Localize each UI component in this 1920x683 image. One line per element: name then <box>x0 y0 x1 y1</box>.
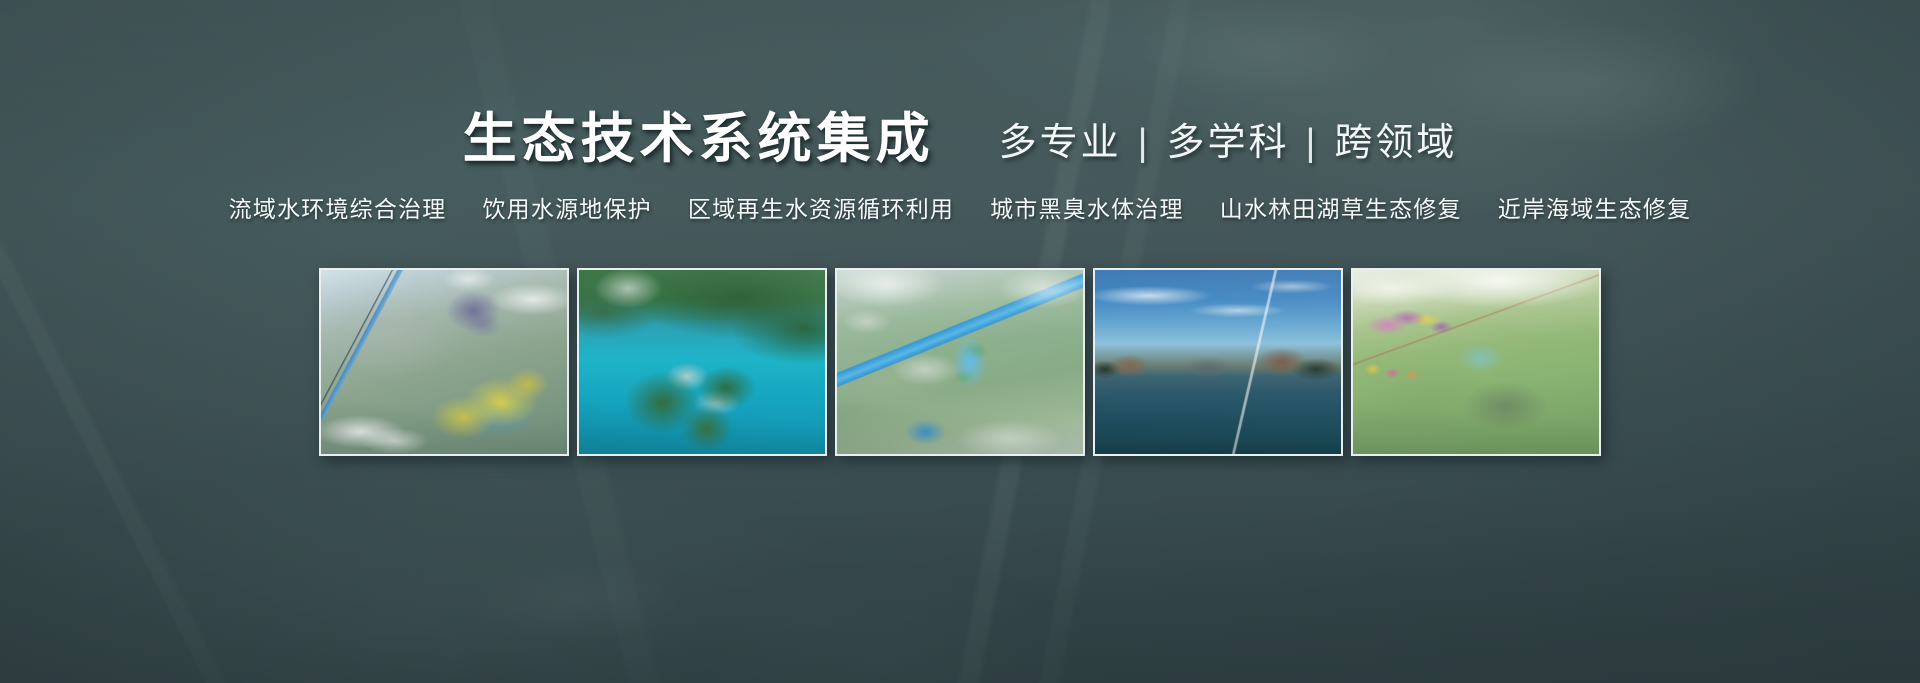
thumbnail-sheen-5 <box>1353 270 1599 454</box>
banner-tagline: 多专业 | 多学科 | 跨领域 <box>999 124 1458 166</box>
tagline-item-2: 多学科 <box>1166 124 1289 162</box>
banner-content: 生态技术系统集成 多专业 | 多学科 | 跨领域 流域水环境综合治理 饮用水源地… <box>0 0 1920 683</box>
thumbnail-rural-farmland-flower-fields[interactable] <box>1351 268 1601 456</box>
tagline-item-3: 跨领域 <box>1334 124 1457 162</box>
subtitle-item-3[interactable]: 区域再生水资源循环利用 <box>688 190 954 224</box>
subtitle-item-2[interactable]: 饮用水源地保护 <box>482 190 651 224</box>
thumbnail-mountain-lake-reflection[interactable] <box>1093 268 1343 456</box>
hero-banner: 生态技术系统集成 多专业 | 多学科 | 跨领域 流域水环境综合治理 饮用水源地… <box>0 0 1920 683</box>
subtitle-row: 流域水环境综合治理 饮用水源地保护 区域再生水资源循环利用 城市黑臭水体治理 山… <box>0 190 1920 224</box>
thumbnail-sheen-4 <box>1095 270 1341 454</box>
subtitle-item-1[interactable]: 流域水环境综合治理 <box>229 190 447 224</box>
subtitle-item-5[interactable]: 山水林田湖草生态修复 <box>1220 190 1462 224</box>
thumbnail-river-corridor-restoration[interactable] <box>835 268 1085 456</box>
thumbnail-sheen-2 <box>579 270 825 454</box>
banner-headline: 生态技术系统集成 <box>463 112 935 166</box>
subtitle-item-6[interactable]: 近岸海域生态修复 <box>1498 190 1692 224</box>
headline-row: 生态技术系统集成 多专业 | 多学科 | 跨领域 <box>0 112 1920 166</box>
tagline-separator-1: | <box>1138 124 1151 162</box>
tagline-separator-2: | <box>1306 124 1319 162</box>
thumbnail-gallery <box>0 268 1920 456</box>
tagline-item-1: 多专业 <box>999 124 1122 162</box>
subtitle-item-4[interactable]: 城市黑臭水体治理 <box>990 190 1184 224</box>
thumbnail-sheen-3 <box>837 270 1083 454</box>
thumbnail-lake-islands-forest[interactable] <box>577 268 827 456</box>
thumbnail-sheen-1 <box>321 270 567 454</box>
thumbnail-watershed-aerial-masterplan[interactable] <box>319 268 569 456</box>
